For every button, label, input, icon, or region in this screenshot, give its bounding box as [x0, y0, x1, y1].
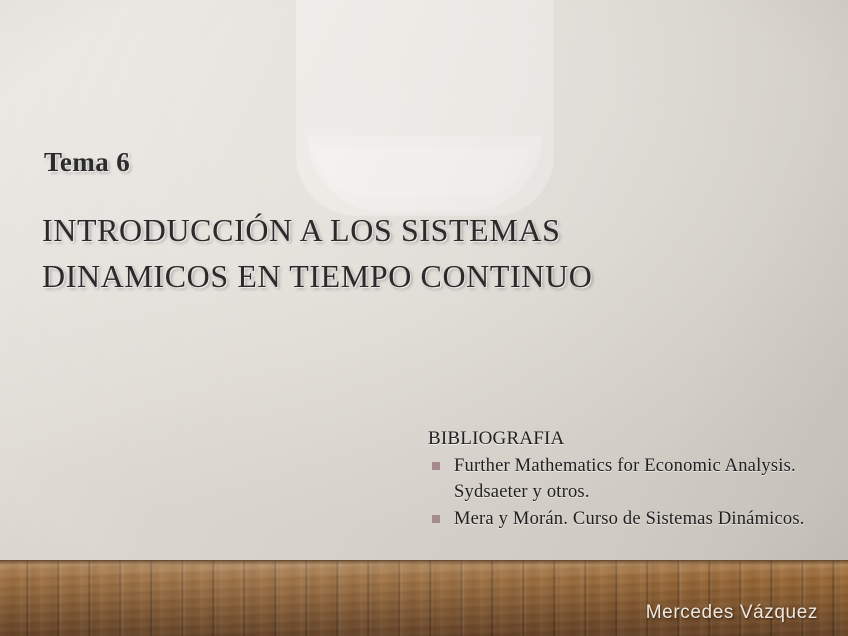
- author-name: Mercedes Vázquez: [646, 602, 818, 624]
- square-bullet-icon: [432, 462, 440, 470]
- bibliography-item-text: Mera y Morán. Curso de Sistemas Dinámico…: [454, 506, 828, 532]
- decorative-watermark-shape: [296, 0, 554, 216]
- slide-vignette-overlay: [0, 0, 848, 636]
- floor-shading-overlay: [0, 561, 848, 636]
- bibliography-list: Further Mathematics for Economic Analysi…: [428, 453, 828, 532]
- bibliography-item-text: Further Mathematics for Economic Analysi…: [454, 453, 828, 505]
- wooden-floor-band: [0, 560, 848, 636]
- slide-title: INTRODUCCIÓN A LOS SISTEMAS DINAMICOS EN…: [42, 207, 762, 299]
- slide-title-line-2: DINAMICOS EN TIEMPO CONTINUO: [42, 253, 762, 299]
- presentation-slide: Tema 6 INTRODUCCIÓN A LOS SISTEMAS DINAM…: [0, 0, 848, 636]
- decorative-watermark-shape-secondary: [316, 148, 528, 196]
- slide-title-line-1: INTRODUCCIÓN A LOS SISTEMAS: [42, 207, 762, 253]
- bibliography-block: BIBLIOGRAFIA Further Mathematics for Eco…: [428, 428, 828, 533]
- slide-eyebrow-label: Tema 6: [44, 147, 130, 178]
- square-bullet-icon: [432, 515, 440, 523]
- floor-top-shadow: [0, 561, 848, 565]
- bibliography-heading: BIBLIOGRAFIA: [428, 428, 828, 450]
- list-item: Further Mathematics for Economic Analysi…: [428, 453, 828, 505]
- slide-lighting-overlay: [0, 0, 848, 636]
- list-item: Mera y Morán. Curso de Sistemas Dinámico…: [428, 506, 828, 532]
